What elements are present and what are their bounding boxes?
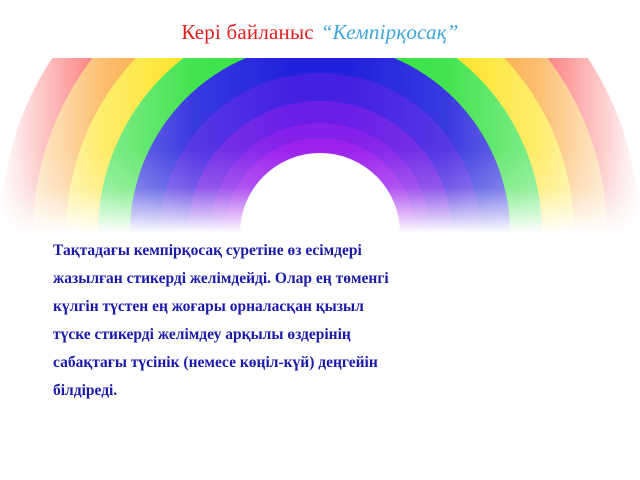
body-line: жазылған стикерді желімдейді. Олар ең тө… (53, 265, 553, 293)
slide-canvas: Кері байланыс“Кемпірқосақ” Тақтадағы кем… (0, 0, 640, 480)
rainbow-arc-graphic (0, 58, 640, 233)
rainbow-bands (0, 58, 640, 233)
body-line: түске стикерді желімдеу арқылы өздерінің (53, 321, 553, 349)
slide-title: Кері байланыс“Кемпірқосақ” (0, 20, 640, 45)
body-paragraph: Тақтадағы кемпірқосақ суретіне өз есімде… (53, 237, 553, 405)
body-line: білдіреді. (53, 377, 553, 405)
body-line: күлгін түстен ең жоғары орналасқан қызыл (53, 293, 553, 321)
title-quoted-text: “Кемпірқосақ” (321, 20, 459, 44)
body-line: сабақтағы түсінік (немесе көңіл-күй) дең… (53, 349, 553, 377)
body-line: Тақтадағы кемпірқосақ суретіне өз есімде… (53, 237, 553, 265)
title-main-text: Кері байланыс (181, 20, 313, 44)
